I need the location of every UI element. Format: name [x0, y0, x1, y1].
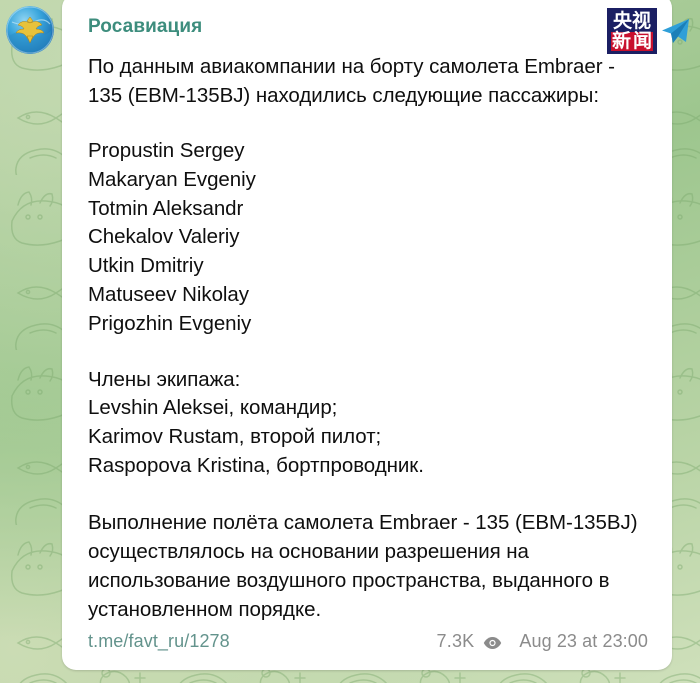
list-item: Propustin Sergey — [88, 137, 648, 166]
cctv-glyph-shi: 视 — [632, 12, 651, 31]
watermark: 央 视 新 闻 — [607, 8, 692, 54]
crew-heading: Члены экипажа: — [88, 366, 648, 395]
cctv-news-logo: 央 视 新 闻 — [607, 8, 657, 54]
list-item: Totmin Aleksandr — [88, 195, 648, 224]
message-intro-paragraph: По данным авиакомпании на борту самолета… — [88, 52, 648, 110]
list-item: Makaryan Evgeniy — [88, 166, 648, 195]
avatar-emblem-icon — [6, 6, 54, 54]
cctv-logo-row-bottom: 新 闻 — [611, 32, 653, 51]
message-permalink[interactable]: t.me/favt_ru/1278 — [88, 631, 230, 652]
message-meta: 7.3K Aug 23 at 23:00 — [437, 631, 648, 652]
message-timestamp: Aug 23 at 23:00 — [519, 631, 648, 652]
cctv-glyph-yang: 央 — [613, 12, 632, 31]
list-item: Utkin Dmitriy — [88, 252, 648, 281]
message-bubble[interactable]: Росавиация По данным авиакомпании на бор… — [62, 0, 672, 670]
list-item: Matuseev Nikolay — [88, 281, 648, 310]
list-item: Chekalov Valeriy — [88, 223, 648, 252]
telegram-plane-icon — [658, 14, 692, 48]
eye-icon — [483, 636, 502, 650]
passenger-list: Propustin Sergey Makaryan Evgeniy Totmin… — [88, 137, 648, 339]
paragraph-spacer — [88, 481, 648, 508]
cctv-logo-row-top: 央 视 — [613, 12, 651, 31]
list-item: Levshin Aleksei, командир; — [88, 394, 648, 423]
cctv-glyph-wen: 闻 — [632, 32, 653, 51]
list-item: Raspopova Kristina, бортпроводник. — [88, 452, 648, 481]
paragraph-spacer — [88, 339, 648, 366]
channel-name[interactable]: Росавиация — [88, 16, 648, 38]
view-count: 7.3K — [437, 631, 475, 652]
message-footer: t.me/favt_ru/1278 7.3K Aug 23 at 23:00 — [88, 631, 648, 652]
list-item: Karimov Rustam, второй пилот; — [88, 423, 648, 452]
list-item: Prigozhin Evgeniy — [88, 310, 648, 339]
avatar[interactable] — [6, 6, 54, 54]
cctv-glyph-xin: 新 — [611, 32, 632, 51]
message-closing-paragraph: Выполнение полёта самолета Embraer - 135… — [88, 508, 648, 624]
crew-section: Члены экипажа: Levshin Aleksei, командир… — [88, 366, 648, 481]
paragraph-spacer — [88, 110, 648, 137]
